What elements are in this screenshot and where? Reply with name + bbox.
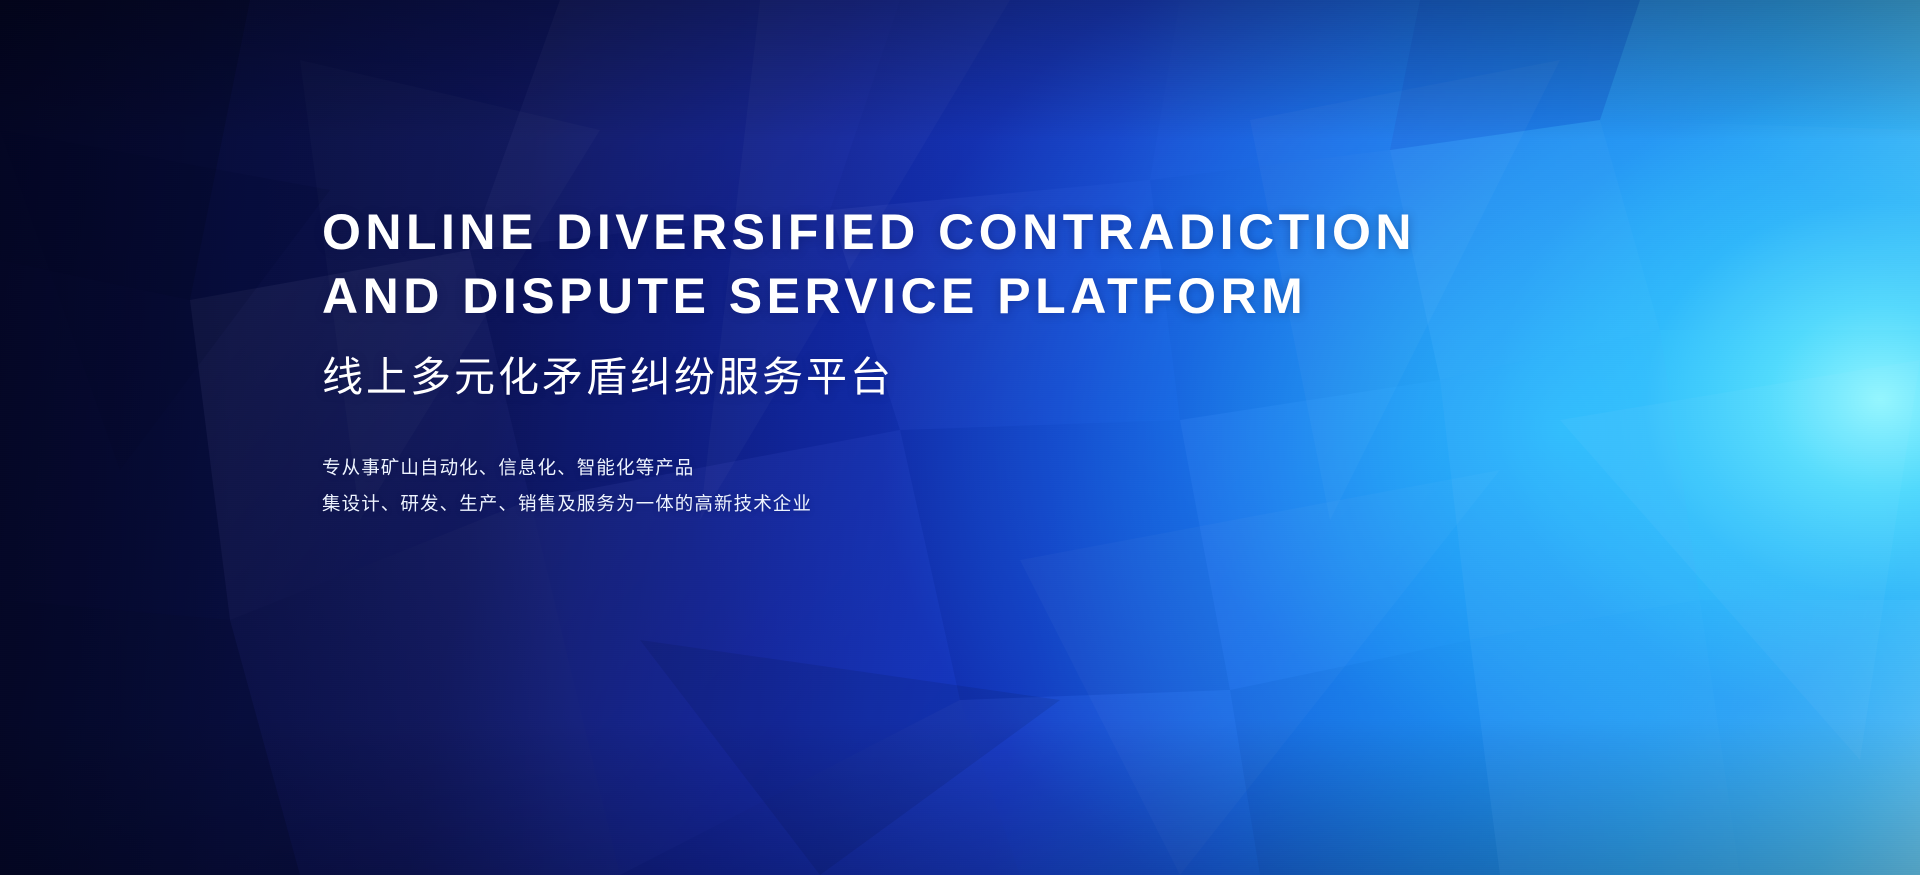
banner-description-line2: 集设计、研发、生产、销售及服务为一体的高新技术企业 (322, 486, 1582, 522)
hero-banner: ONLINE DIVERSIFIED CONTRADICTION AND DIS… (0, 0, 1920, 875)
banner-title-english-line1: ONLINE DIVERSIFIED CONTRADICTION (322, 200, 1582, 264)
banner-title-english-line2: AND DISPUTE SERVICE PLATFORM (322, 264, 1582, 328)
banner-content: ONLINE DIVERSIFIED CONTRADICTION AND DIS… (322, 200, 1582, 522)
banner-description-line1: 专从事矿山自动化、信息化、智能化等产品 (322, 450, 1582, 486)
banner-title-chinese: 线上多元化矛盾纠纷服务平台 (322, 350, 1582, 404)
banner-title-english: ONLINE DIVERSIFIED CONTRADICTION AND DIS… (322, 200, 1582, 328)
banner-description: 专从事矿山自动化、信息化、智能化等产品 集设计、研发、生产、销售及服务为一体的高… (322, 450, 1582, 522)
